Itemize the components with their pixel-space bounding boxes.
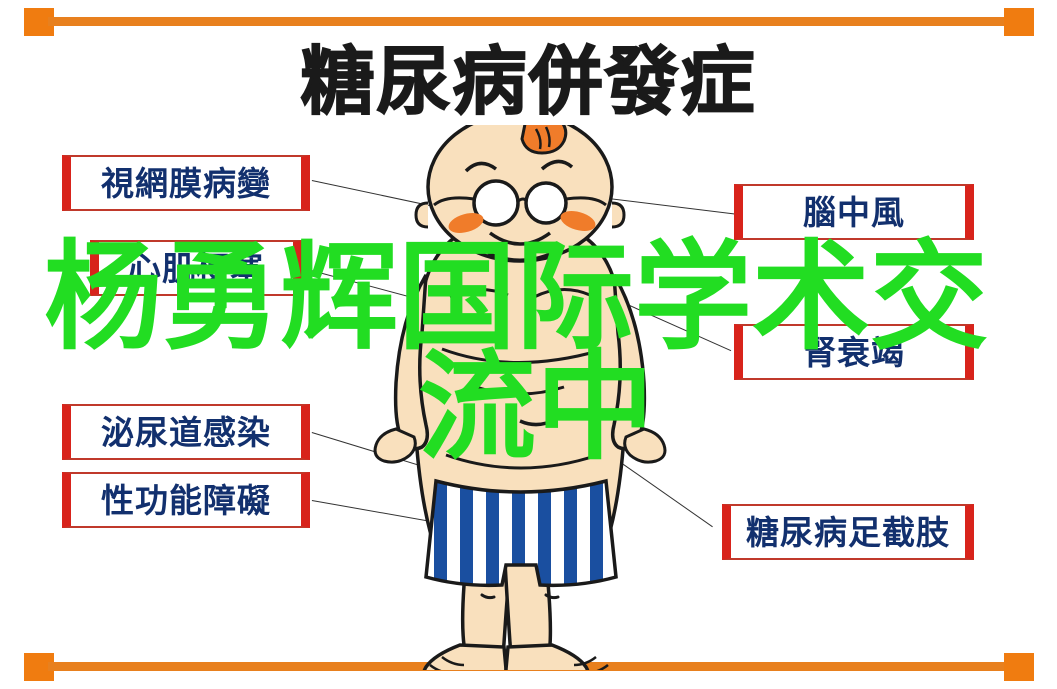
- label-uti[interactable]: 泌尿道感染: [62, 404, 310, 460]
- label-stroke-text: 腦中風: [803, 196, 905, 229]
- label-myocardial-infarct[interactable]: 心肌梗塞: [90, 240, 302, 296]
- poster-canvas: 糖尿病併發症: [0, 0, 1057, 689]
- label-retinopathy[interactable]: 視網膜病變: [62, 155, 310, 211]
- label-retinopathy-text: 視網膜病變: [101, 167, 271, 200]
- label-myocardial-infarct-text: 心肌梗塞: [128, 252, 264, 285]
- label-foot-amputation[interactable]: 糖尿病足截肢: [722, 504, 974, 560]
- label-uti-text: 泌尿道感染: [101, 416, 271, 449]
- label-stroke[interactable]: 腦中風: [734, 184, 974, 240]
- frame-corner-bottom-right: [1004, 653, 1034, 681]
- frame-corner-top-right: [1004, 8, 1034, 36]
- label-renal-failure-text: 腎衰竭: [803, 336, 905, 369]
- page-title: 糖尿病併發症: [0, 40, 1057, 124]
- label-sexual-dysfunction-text: 性功能障礙: [101, 484, 271, 517]
- cartoon-baby-figure: [330, 125, 710, 670]
- frame-line-top: [48, 17, 1008, 26]
- label-foot-amputation-text: 糖尿病足截肢: [746, 516, 950, 549]
- label-sexual-dysfunction[interactable]: 性功能障礙: [62, 472, 310, 528]
- label-renal-failure[interactable]: 腎衰竭: [734, 324, 974, 380]
